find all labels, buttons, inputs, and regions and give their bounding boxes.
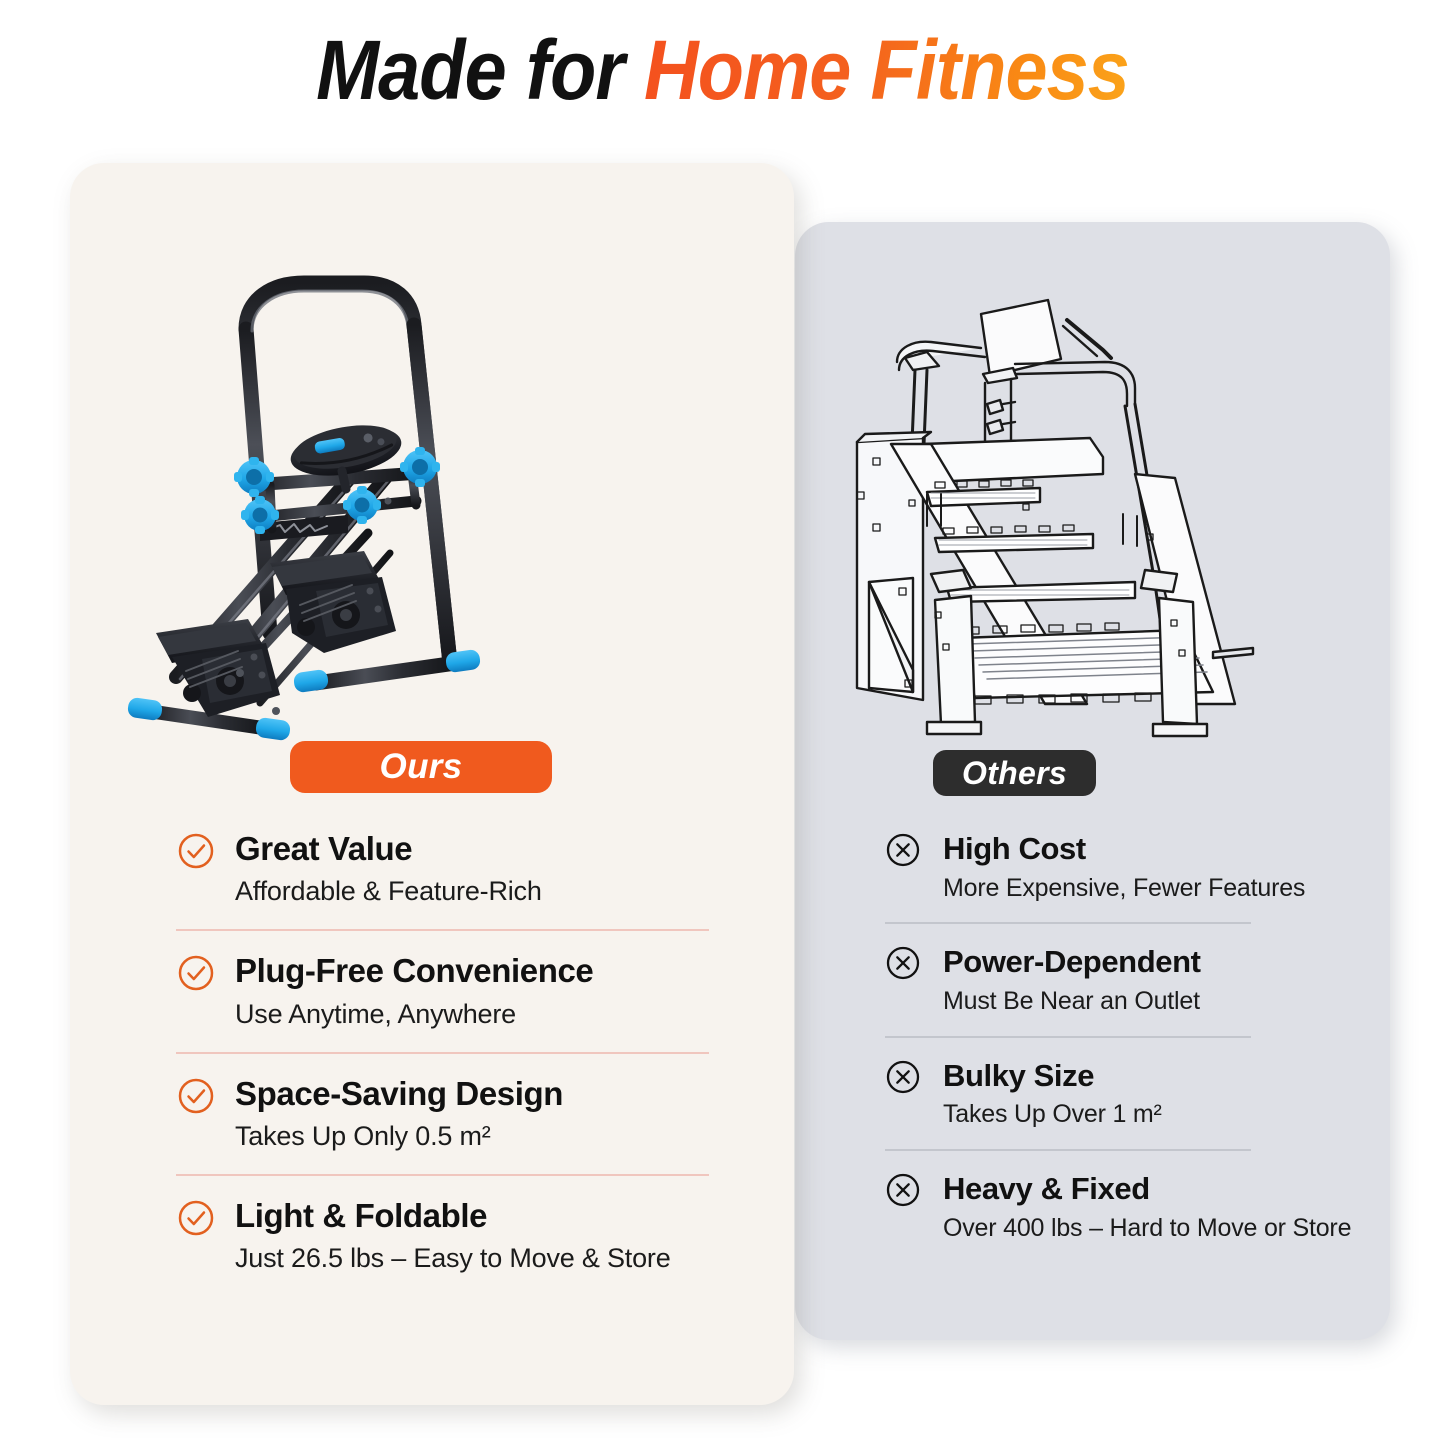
list-item-title: High Cost xyxy=(943,830,1355,868)
title-prefix: Made for xyxy=(316,23,644,117)
list-item: Plug-Free Convenience Use Anytime, Anywh… xyxy=(177,951,737,1051)
list-item-subtitle: Must Be Near an Outlet xyxy=(943,985,1355,1018)
others-feature-list: High Cost More Expensive, Fewer Features… xyxy=(885,830,1355,1262)
list-divider xyxy=(176,929,709,931)
title-accent: Home Fitness xyxy=(644,23,1129,117)
x-circle-icon xyxy=(885,832,921,868)
list-divider xyxy=(885,1149,1251,1151)
list-item: Space-Saving Design Takes Up Only 0.5 m² xyxy=(177,1074,737,1174)
check-circle-icon xyxy=(177,954,215,992)
list-item: Heavy & Fixed Over 400 lbs – Hard to Mov… xyxy=(885,1170,1355,1262)
list-divider xyxy=(885,1036,1251,1038)
list-item-subtitle: Takes Up Only 0.5 m² xyxy=(235,1119,737,1154)
ours-feature-list: Great Value Affordable & Feature-Rich Pl… xyxy=(177,829,737,1296)
ours-badge-label: Ours xyxy=(380,747,463,787)
check-circle-icon xyxy=(177,832,215,870)
ours-badge: Ours xyxy=(290,741,552,793)
x-circle-icon xyxy=(885,945,921,981)
list-item-title: Light & Foldable xyxy=(235,1196,737,1236)
list-item-subtitle: Over 400 lbs – Hard to Move or Store xyxy=(943,1212,1355,1245)
list-item: Light & Foldable Just 26.5 lbs – Easy to… xyxy=(177,1196,737,1296)
list-item: High Cost More Expensive, Fewer Features xyxy=(885,830,1355,922)
list-item-subtitle: Affordable & Feature-Rich xyxy=(235,874,737,909)
ours-comparison-panel: Ours Great Value Affordable & Feature-Ri… xyxy=(70,163,794,1405)
check-circle-icon xyxy=(177,1199,215,1237)
list-item-title: Power-Dependent xyxy=(943,943,1355,981)
list-item-title: Bulky Size xyxy=(943,1057,1355,1095)
list-divider xyxy=(176,1052,709,1054)
page-title: Made for Home Fitness xyxy=(72,24,1373,116)
list-divider xyxy=(176,1174,709,1176)
list-item-subtitle: Use Anytime, Anywhere xyxy=(235,997,737,1032)
list-item-title: Heavy & Fixed xyxy=(943,1170,1355,1208)
list-item-title: Space-Saving Design xyxy=(235,1074,737,1114)
others-badge: Others xyxy=(933,750,1096,796)
others-comparison-panel: Others High Cost More Expensive, Fewer F… xyxy=(795,222,1390,1340)
check-circle-icon xyxy=(177,1077,215,1115)
list-item-title: Great Value xyxy=(235,829,737,869)
list-item: Power-Dependent Must Be Near an Outlet xyxy=(885,943,1355,1035)
list-item: Bulky Size Takes Up Over 1 m² xyxy=(885,1057,1355,1149)
list-item-title: Plug-Free Convenience xyxy=(235,951,737,991)
list-item: Great Value Affordable & Feature-Rich xyxy=(177,829,737,929)
others-badge-label: Others xyxy=(962,755,1067,792)
x-circle-icon xyxy=(885,1059,921,1095)
list-divider xyxy=(885,922,1251,924)
ours-product-image xyxy=(120,233,744,793)
list-item-subtitle: More Expensive, Fewer Features xyxy=(943,872,1355,905)
list-item-subtitle: Takes Up Over 1 m² xyxy=(943,1098,1355,1131)
x-circle-icon xyxy=(885,1172,921,1208)
others-product-illustration xyxy=(835,252,1350,752)
list-item-subtitle: Just 26.5 lbs – Easy to Move & Store xyxy=(235,1241,737,1276)
